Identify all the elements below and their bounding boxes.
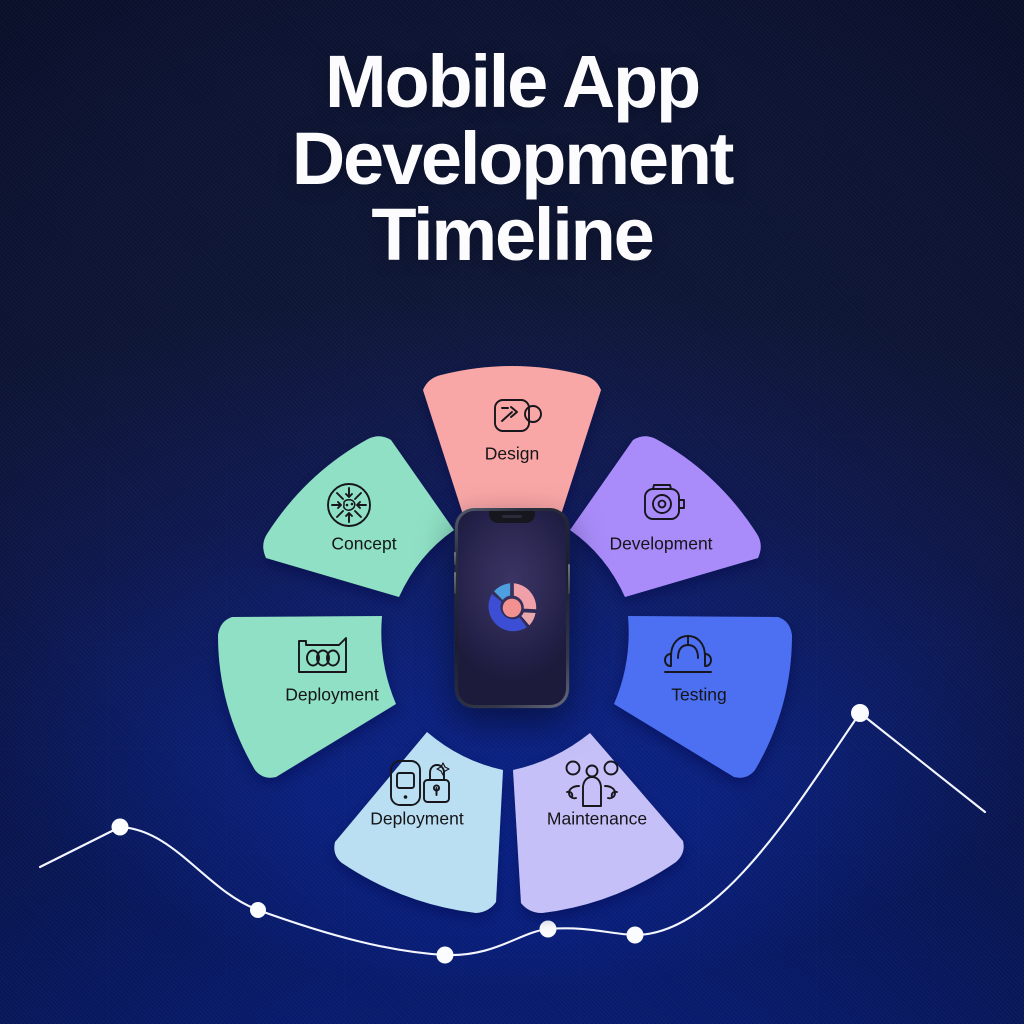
segment-label: Development [609,534,712,554]
phone-screen [458,511,566,705]
segment-label: Design [485,444,539,464]
segment-label: Testing [671,685,726,705]
title-line-3: Timeline [0,199,1024,272]
phone-button-mute [454,552,456,565]
segment-label: Concept [331,534,396,554]
title-line-1: Mobile App [0,46,1024,119]
donut-slice-light-blue [494,583,510,600]
infographic-canvas: Mobile App Development Timeline [0,0,1024,1024]
donut-hub [503,599,522,618]
phone-button-power [568,564,570,594]
segment-body [263,436,454,597]
segment-label: Maintenance [547,809,647,829]
wheel-segment-testing[interactable]: Testing [614,616,792,778]
segment-label: Deployment [370,809,464,829]
segment-label: Deployment [285,685,379,705]
phone-button-volume [454,572,456,594]
phone-notch [489,511,535,523]
wheel-segment-design[interactable]: Design [423,366,601,524]
page-title: Mobile App Development Timeline [0,46,1024,272]
segment-body [570,436,761,597]
wheel-segment-concept[interactable]: Concept [263,436,454,597]
donut-chart-icon [481,577,543,639]
title-line-2: Development [0,123,1024,196]
smartphone-mockup[interactable] [455,508,569,708]
wheel-segment-development[interactable]: Development [570,436,761,597]
